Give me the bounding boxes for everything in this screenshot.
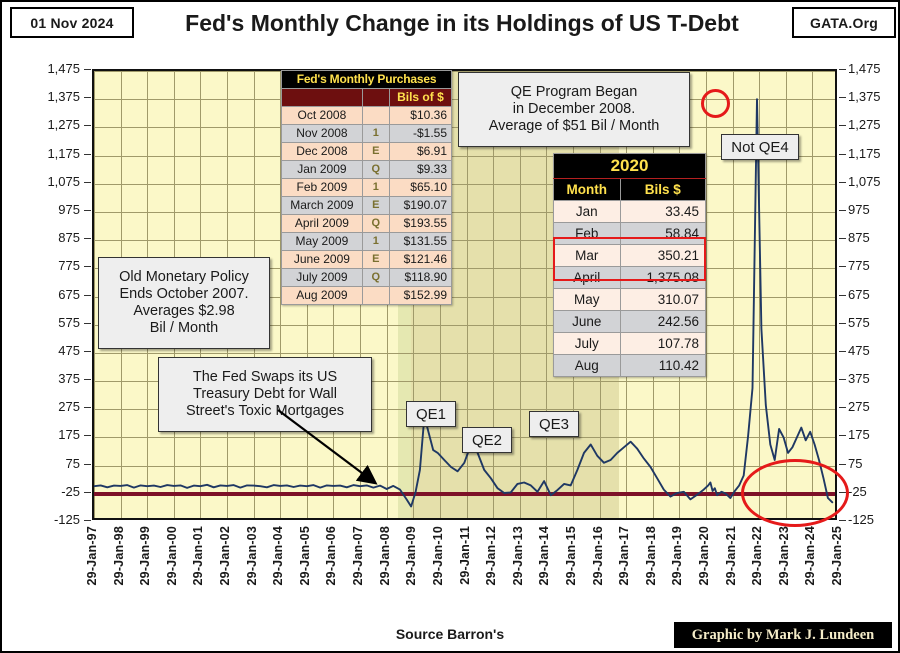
table-row: Feb58.84 xyxy=(554,223,706,245)
x-tick-label: 29-Jan-09 xyxy=(404,526,418,585)
year-cell-month: April xyxy=(554,267,621,289)
y-tick-mark xyxy=(84,435,91,436)
purchases-cell-value: $121.46 xyxy=(389,251,451,269)
y-tick-mark xyxy=(839,407,846,408)
year-cell-month: Aug xyxy=(554,355,621,377)
purchases-cell-value: $10.36 xyxy=(389,107,451,125)
marker-ellipse-qt xyxy=(741,459,849,527)
x-tick-label: 29-Jan-22 xyxy=(750,526,764,585)
year-cell-value: 350.21 xyxy=(620,245,705,267)
y-tick-label: 275 xyxy=(8,400,80,413)
callout-not-qe4: Not QE4 xyxy=(721,134,799,160)
y-tick-mark xyxy=(839,464,846,465)
purchases-col-value: Bils of $ xyxy=(389,89,451,107)
year-col-month: Month xyxy=(554,179,621,201)
y-tick-label: 275 xyxy=(848,400,900,413)
table-row: June 2009E$121.46 xyxy=(282,251,452,269)
x-tick-label: 29-Jan-07 xyxy=(351,526,365,585)
year-cell-month: Jan xyxy=(554,201,621,223)
x-tick-label: 29-Jan-12 xyxy=(484,526,498,585)
y-tick-label: 1,275 xyxy=(8,118,80,131)
table-row: July107.78 xyxy=(554,333,706,355)
brand-badge: GATA.Org xyxy=(792,7,896,38)
y-tick-mark xyxy=(84,379,91,380)
table-row: June242.56 xyxy=(554,311,706,333)
table-row: Oct 2008$10.36 xyxy=(282,107,452,125)
table-row: Dec 2008E$6.91 xyxy=(282,143,452,161)
purchases-cell-value: -$1.55 xyxy=(389,125,451,143)
x-tick-label: 29-Jan-23 xyxy=(777,526,791,585)
y-tick-label: 775 xyxy=(848,259,900,272)
y-tick-mark xyxy=(84,351,91,352)
y-tick-label: 475 xyxy=(848,344,900,357)
x-tick-label: 29-Jan-06 xyxy=(324,526,338,585)
y-tick-mark xyxy=(839,295,846,296)
y-tick-mark xyxy=(839,323,846,324)
purchases-col-month xyxy=(282,89,363,107)
x-tick-label: 29-Jan-03 xyxy=(245,526,259,585)
y-tick-mark xyxy=(839,379,846,380)
year-cell-value: 310.07 xyxy=(620,289,705,311)
table-row: May310.07 xyxy=(554,289,706,311)
y-tick-label: 1,475 xyxy=(848,62,900,75)
callout-qe-program-began: QE Program Began in December 2008. Avera… xyxy=(458,72,690,147)
y-tick-label: 1,375 xyxy=(848,90,900,103)
y-tick-mark xyxy=(839,154,846,155)
year-cell-value: 1,375.08 xyxy=(620,267,705,289)
y-tick-mark xyxy=(839,182,846,183)
purchases-cell-qe: 1 xyxy=(362,125,389,143)
year-cell-value: 110.42 xyxy=(620,355,705,377)
callout-qe3: QE3 xyxy=(529,411,579,437)
y-tick-mark xyxy=(84,69,91,70)
table-row: Mar350.21 xyxy=(554,245,706,267)
y-tick-label: 1,075 xyxy=(8,175,80,188)
purchases-cell-month: Jan 2009 xyxy=(282,161,363,179)
purchases-cell-value: $190.07 xyxy=(389,197,451,215)
x-tick-label: 29-Jan-98 xyxy=(112,526,126,585)
purchases-cell-month: July 2009 xyxy=(282,269,363,287)
purchases-cell-month: March 2009 xyxy=(282,197,363,215)
y-tick-label: -125 xyxy=(848,513,900,526)
page-title: Fed's Monthly Change in its Holdings of … xyxy=(132,7,792,40)
x-tick-label: 29-Jan-20 xyxy=(697,526,711,585)
table-row: Aug 2009$152.99 xyxy=(282,287,452,305)
purchases-cell-qe xyxy=(362,107,389,125)
x-tick-label: 29-Jan-10 xyxy=(431,526,445,585)
purchases-cell-qe: 1 xyxy=(362,179,389,197)
y-tick-label: 1,275 xyxy=(848,118,900,131)
callout-line: Averages $2.98 xyxy=(133,303,234,320)
date-badge: 01 Nov 2024 xyxy=(10,7,134,38)
x-tick-label: 29-Jan-14 xyxy=(537,526,551,585)
year-cell-value: 58.84 xyxy=(620,223,705,245)
purchases-cell-value: $152.99 xyxy=(389,287,451,305)
purchases-cell-value: $6.91 xyxy=(389,143,451,161)
table-row: March 2009E$190.07 xyxy=(282,197,452,215)
y-tick-label: 75 xyxy=(8,457,80,470)
y-tick-label: 975 xyxy=(8,203,80,216)
y-tick-mark xyxy=(839,435,846,436)
purchases-cell-month: Nov 2008 xyxy=(282,125,363,143)
chart-frame: 01 Nov 2024 Fed's Monthly Change in its … xyxy=(0,0,900,653)
x-tick-label: 29-Jan-00 xyxy=(165,526,179,585)
purchases-cell-value: $193.55 xyxy=(389,215,451,233)
callout-line: Treasury Debt for Wall xyxy=(193,386,337,403)
purchases-cell-month: Aug 2009 xyxy=(282,287,363,305)
y-tick-label: 175 xyxy=(848,428,900,441)
graphic-credit: Graphic by Mark J. Lundeen xyxy=(674,622,892,648)
y-tick-mark xyxy=(84,407,91,408)
table-row: Jan 2009Q$9.33 xyxy=(282,161,452,179)
y-tick-label: 1,375 xyxy=(8,90,80,103)
y-tick-mark xyxy=(84,323,91,324)
y-tick-label: 875 xyxy=(8,231,80,244)
purchases-cell-value: $65.10 xyxy=(389,179,451,197)
callout-line: Average of $51 Bil / Month xyxy=(489,118,660,135)
purchases-cell-month: May 2009 xyxy=(282,233,363,251)
table-row: April1,375.08 xyxy=(554,267,706,289)
callout-old-monetary-policy: Old Monetary Policy Ends October 2007. A… xyxy=(98,257,270,349)
y-tick-label: 1,175 xyxy=(8,147,80,160)
callout-line: Ends October 2007. xyxy=(120,286,249,303)
y-tick-label: 475 xyxy=(8,344,80,357)
purchases-table-title: Fed's Monthly Purchases xyxy=(282,71,452,89)
year-cell-month: Mar xyxy=(554,245,621,267)
y-tick-mark xyxy=(839,97,846,98)
x-tick-label: 29-Jan-11 xyxy=(458,526,472,585)
x-tick-label: 29-Jan-15 xyxy=(564,526,578,585)
x-tick-label: 29-Jan-18 xyxy=(644,526,658,585)
x-tick-label: 29-Jan-04 xyxy=(271,526,285,585)
y-tick-mark xyxy=(839,266,846,267)
y-tick-mark xyxy=(84,492,91,493)
y-tick-label: 675 xyxy=(848,288,900,301)
table-row: Feb 20091$65.10 xyxy=(282,179,452,197)
y-tick-mark xyxy=(839,238,846,239)
table-row: July 2009Q$118.90 xyxy=(282,269,452,287)
y-tick-label: 375 xyxy=(8,372,80,385)
y-tick-label: 75 xyxy=(848,457,900,470)
purchases-cell-qe: E xyxy=(362,251,389,269)
purchases-cell-qe: Q xyxy=(362,215,389,233)
y-tick-label: 1,075 xyxy=(848,175,900,188)
purchases-cell-value: $9.33 xyxy=(389,161,451,179)
y-tick-label: 675 xyxy=(8,288,80,301)
year-2020-table: 2020 Month Bils $ Jan33.45Feb58.84Mar350… xyxy=(553,153,706,377)
y-tick-label: -25 xyxy=(848,485,900,498)
x-tick-label: 29-Jan-99 xyxy=(138,526,152,585)
purchases-cell-month: April 2009 xyxy=(282,215,363,233)
x-tick-label: 29-Jan-01 xyxy=(191,526,205,585)
year-col-value: Bils $ xyxy=(620,179,705,201)
marker-circle-spike xyxy=(701,89,730,118)
y-tick-mark xyxy=(839,351,846,352)
callout-qe2: QE2 xyxy=(462,427,512,453)
year-table-title: 2020 xyxy=(554,154,706,179)
purchases-cell-value: $131.55 xyxy=(389,233,451,251)
x-tick-label: 29-Jan-97 xyxy=(85,526,99,585)
y-tick-label: 975 xyxy=(848,203,900,216)
purchases-cell-month: Oct 2008 xyxy=(282,107,363,125)
purchases-cell-value: $118.90 xyxy=(389,269,451,287)
fed-monthly-purchases-table: Fed's Monthly Purchases Bils of $ Oct 20… xyxy=(281,70,452,305)
y-tick-label: -125 xyxy=(8,513,80,526)
purchases-cell-month: June 2009 xyxy=(282,251,363,269)
y-tick-mark xyxy=(839,69,846,70)
x-tick-label: 29-Jan-13 xyxy=(511,526,525,585)
x-tick-label: 29-Jan-05 xyxy=(298,526,312,585)
y-tick-label: 1,175 xyxy=(848,147,900,160)
purchases-cell-qe xyxy=(362,287,389,305)
purchases-cell-qe: E xyxy=(362,197,389,215)
year-cell-value: 33.45 xyxy=(620,201,705,223)
year-cell-value: 242.56 xyxy=(620,311,705,333)
table-row: April 2009Q$193.55 xyxy=(282,215,452,233)
y-tick-mark xyxy=(84,464,91,465)
x-tick-label: 29-Jan-21 xyxy=(724,526,738,585)
callout-qe1: QE1 xyxy=(406,401,456,427)
y-tick-label: 775 xyxy=(8,259,80,272)
y-tick-mark xyxy=(839,125,846,126)
year-cell-month: June xyxy=(554,311,621,333)
x-tick-label: 29-Jan-16 xyxy=(591,526,605,585)
y-tick-label: 575 xyxy=(848,316,900,329)
y-tick-label: 375 xyxy=(848,372,900,385)
y-tick-label: 875 xyxy=(848,231,900,244)
callout-line: QE Program Began xyxy=(511,84,638,101)
y-tick-mark xyxy=(84,520,91,521)
purchases-cell-qe: Q xyxy=(362,269,389,287)
y-tick-label: 175 xyxy=(8,428,80,441)
pointer-arrow xyxy=(270,402,390,494)
y-tick-label: 1,475 xyxy=(8,62,80,75)
table-row: Jan33.45 xyxy=(554,201,706,223)
x-tick-label: 29-Jan-19 xyxy=(670,526,684,585)
year-cell-month: May xyxy=(554,289,621,311)
purchases-cell-month: Dec 2008 xyxy=(282,143,363,161)
callout-line: The Fed Swaps its US xyxy=(193,369,337,386)
x-tick-label: 29-Jan-25 xyxy=(830,526,844,585)
y-tick-label: -25 xyxy=(8,485,80,498)
purchases-cell-qe: Q xyxy=(362,161,389,179)
purchases-cell-qe: 1 xyxy=(362,233,389,251)
y-tick-label: 575 xyxy=(8,316,80,329)
y-tick-mark xyxy=(839,210,846,211)
year-cell-month: Feb xyxy=(554,223,621,245)
callout-line: Old Monetary Policy xyxy=(119,269,249,286)
x-tick-label: 29-Jan-17 xyxy=(617,526,631,585)
table-row: May 20091$131.55 xyxy=(282,233,452,251)
table-row: Nov 20081-$1.55 xyxy=(282,125,452,143)
purchases-cell-month: Feb 2009 xyxy=(282,179,363,197)
y-tick-mark xyxy=(839,520,846,521)
callout-line: Bil / Month xyxy=(150,320,219,337)
x-tick-label: 29-Jan-24 xyxy=(803,526,817,585)
purchases-cell-qe: E xyxy=(362,143,389,161)
x-tick-label: 29-Jan-08 xyxy=(378,526,392,585)
purchases-col-qe xyxy=(362,89,389,107)
x-tick-label: 29-Jan-02 xyxy=(218,526,232,585)
year-cell-month: July xyxy=(554,333,621,355)
year-cell-value: 107.78 xyxy=(620,333,705,355)
table-row: Aug110.42 xyxy=(554,355,706,377)
callout-line: in December 2008. xyxy=(513,101,636,118)
